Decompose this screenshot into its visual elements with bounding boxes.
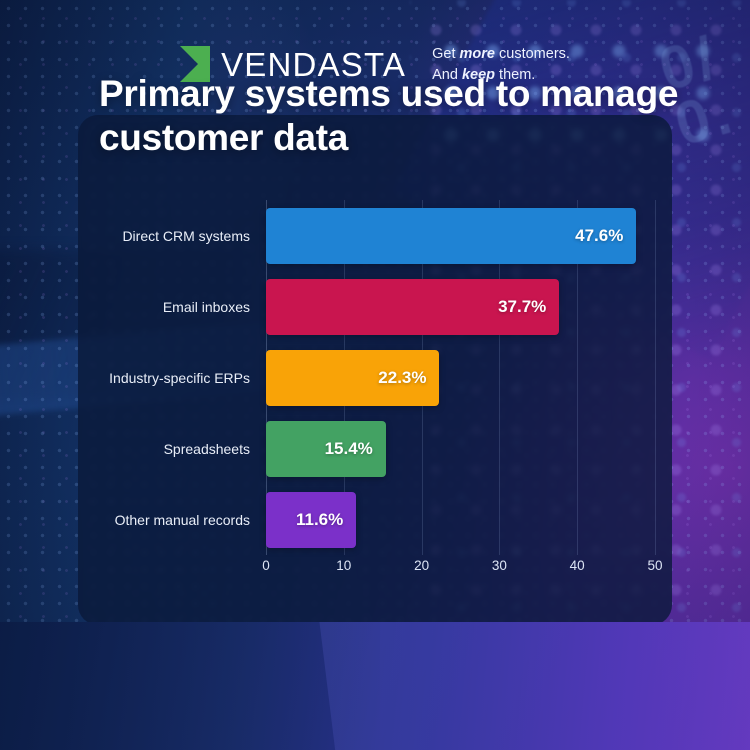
category-label: Other manual records bbox=[115, 512, 250, 528]
x-tick-label: 0 bbox=[262, 558, 270, 573]
category-label: Industry-specific ERPs bbox=[109, 370, 250, 386]
gridline bbox=[655, 200, 656, 555]
chart-panel: Direct CRM systems47.6%Email inboxes37.7… bbox=[78, 115, 672, 625]
x-tick-label: 40 bbox=[570, 558, 585, 573]
footer-sheen bbox=[316, 622, 750, 750]
x-axis-ticks: 01020304050 bbox=[266, 558, 655, 584]
x-tick-label: 50 bbox=[647, 558, 662, 573]
bar-row[interactable]: Email inboxes37.7% bbox=[266, 279, 559, 335]
category-label: Direct CRM systems bbox=[122, 228, 250, 244]
tagline-l1-suffix: customers. bbox=[495, 46, 570, 62]
bar[interactable]: 11.6% bbox=[266, 492, 356, 548]
page-title: Primary systems used to manage customer … bbox=[99, 72, 689, 161]
category-label: Email inboxes bbox=[163, 299, 250, 315]
category-label: Spreadsheets bbox=[164, 441, 250, 457]
bar[interactable]: 22.3% bbox=[266, 350, 439, 406]
bar-row[interactable]: Spreadsheets15.4% bbox=[266, 421, 386, 477]
tagline-line-1: Get more customers. bbox=[432, 44, 570, 65]
bar-row[interactable]: Other manual records11.6% bbox=[266, 492, 356, 548]
bar-value-label: 47.6% bbox=[575, 226, 636, 246]
x-tick-label: 30 bbox=[492, 558, 507, 573]
footer-band bbox=[0, 622, 750, 750]
bar-series: Direct CRM systems47.6%Email inboxes37.7… bbox=[266, 200, 655, 555]
bar[interactable]: 37.7% bbox=[266, 279, 559, 335]
bar-row[interactable]: Direct CRM systems47.6% bbox=[266, 208, 636, 264]
tagline-l1-emphasis: more bbox=[460, 46, 495, 62]
x-tick-label: 10 bbox=[336, 558, 351, 573]
tagline-l1-prefix: Get bbox=[432, 46, 459, 62]
bar[interactable]: 47.6% bbox=[266, 208, 636, 264]
bar-value-label: 22.3% bbox=[378, 368, 439, 388]
bar-value-label: 15.4% bbox=[325, 439, 386, 459]
x-tick-label: 20 bbox=[414, 558, 429, 573]
bar[interactable]: 15.4% bbox=[266, 421, 386, 477]
bar-value-label: 11.6% bbox=[296, 510, 356, 530]
bar-value-label: 37.7% bbox=[498, 297, 559, 317]
plot-area: Direct CRM systems47.6%Email inboxes37.7… bbox=[266, 200, 655, 555]
bar-row[interactable]: Industry-specific ERPs22.3% bbox=[266, 350, 439, 406]
